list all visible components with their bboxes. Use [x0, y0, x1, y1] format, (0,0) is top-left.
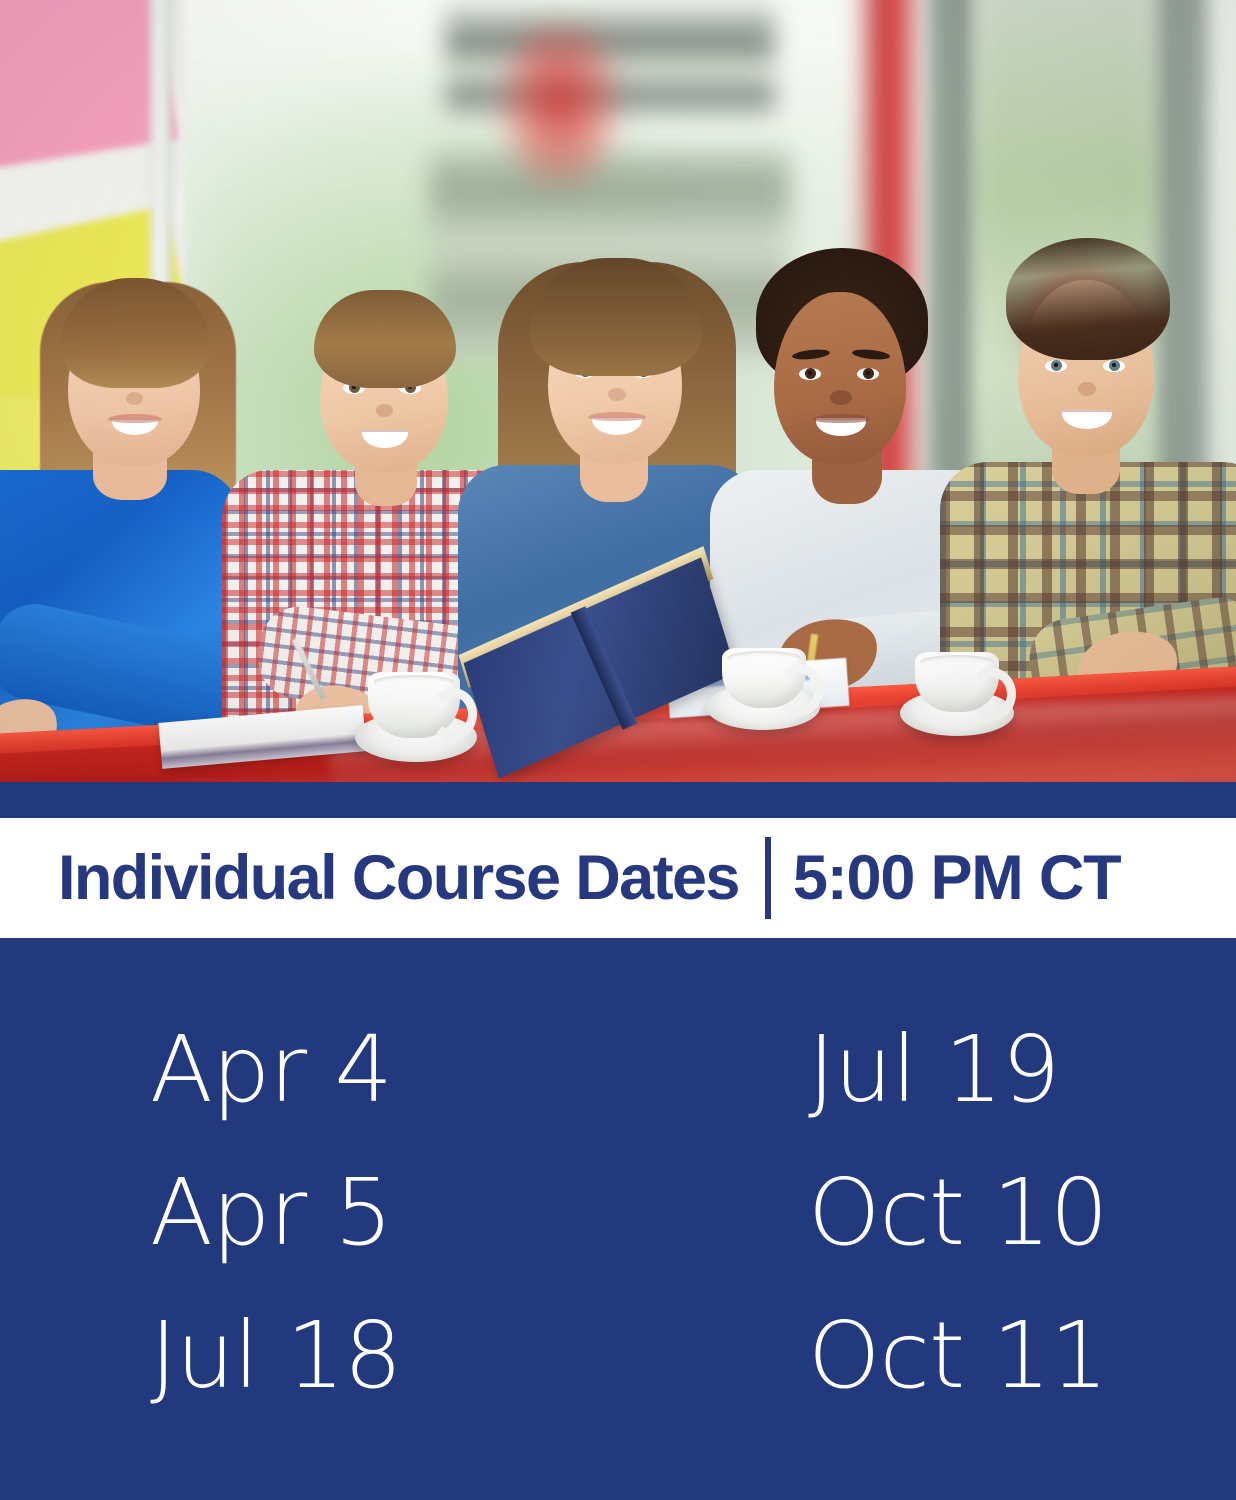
date-item: Apr 5: [150, 1167, 808, 1310]
page-title: Individual Course Dates: [58, 847, 739, 910]
student-5-hair: [1006, 238, 1170, 360]
title-band: Individual Course Dates 5:00 PM CT: [0, 818, 1236, 938]
student-5-nose: [1078, 382, 1096, 396]
course-time: 5:00 PM CT: [793, 847, 1121, 910]
student-4-face: [774, 292, 906, 464]
navy-divider-strip: [0, 782, 1236, 818]
student-2-nose: [376, 404, 393, 417]
student-4-eye-right: [857, 368, 879, 380]
coffee-cup-3: [915, 652, 999, 712]
student-4-eye-left: [799, 368, 821, 380]
background-red-sign: [500, 30, 620, 190]
coffee-cup-1: [368, 672, 460, 738]
student-4-brow-right: [852, 348, 891, 361]
date-item: Apr 4: [150, 1024, 808, 1167]
dates-section: Apr 4 Jul 19 Apr 5 Oct 10 Jul 18 Oct 11: [0, 938, 1236, 1500]
date-item: Jul 18: [150, 1310, 808, 1453]
title-row: Individual Course Dates 5:00 PM CT: [0, 837, 1120, 919]
students-photo: [0, 0, 1236, 782]
date-item: Oct 11: [808, 1310, 1150, 1453]
student-1-nose: [126, 392, 143, 405]
student-4-upper-lip: [812, 414, 870, 423]
student-3-nose: [608, 388, 626, 401]
date-item: Oct 10: [808, 1167, 1150, 1310]
student-5-eye-right: [1103, 360, 1125, 372]
student-3-upper-lip: [588, 412, 646, 421]
student-5-smile: [1062, 410, 1112, 429]
student-4-nose: [830, 390, 852, 405]
student-2-hair: [314, 290, 456, 388]
course-dates-poster: Individual Course Dates 5:00 PM CT Apr 4…: [0, 0, 1236, 1500]
student-2-smile: [362, 430, 408, 448]
title-separator-bar: [765, 837, 771, 919]
student-5-eye-left: [1045, 360, 1067, 372]
date-item: Jul 19: [808, 1024, 1150, 1167]
student-1-upper-lip: [108, 414, 162, 423]
coffee-cup-2: [722, 648, 806, 708]
student-4-brow-left: [792, 348, 831, 361]
dates-grid: Apr 4 Jul 19 Apr 5 Oct 10 Jul 18 Oct 11: [150, 1024, 1150, 1453]
